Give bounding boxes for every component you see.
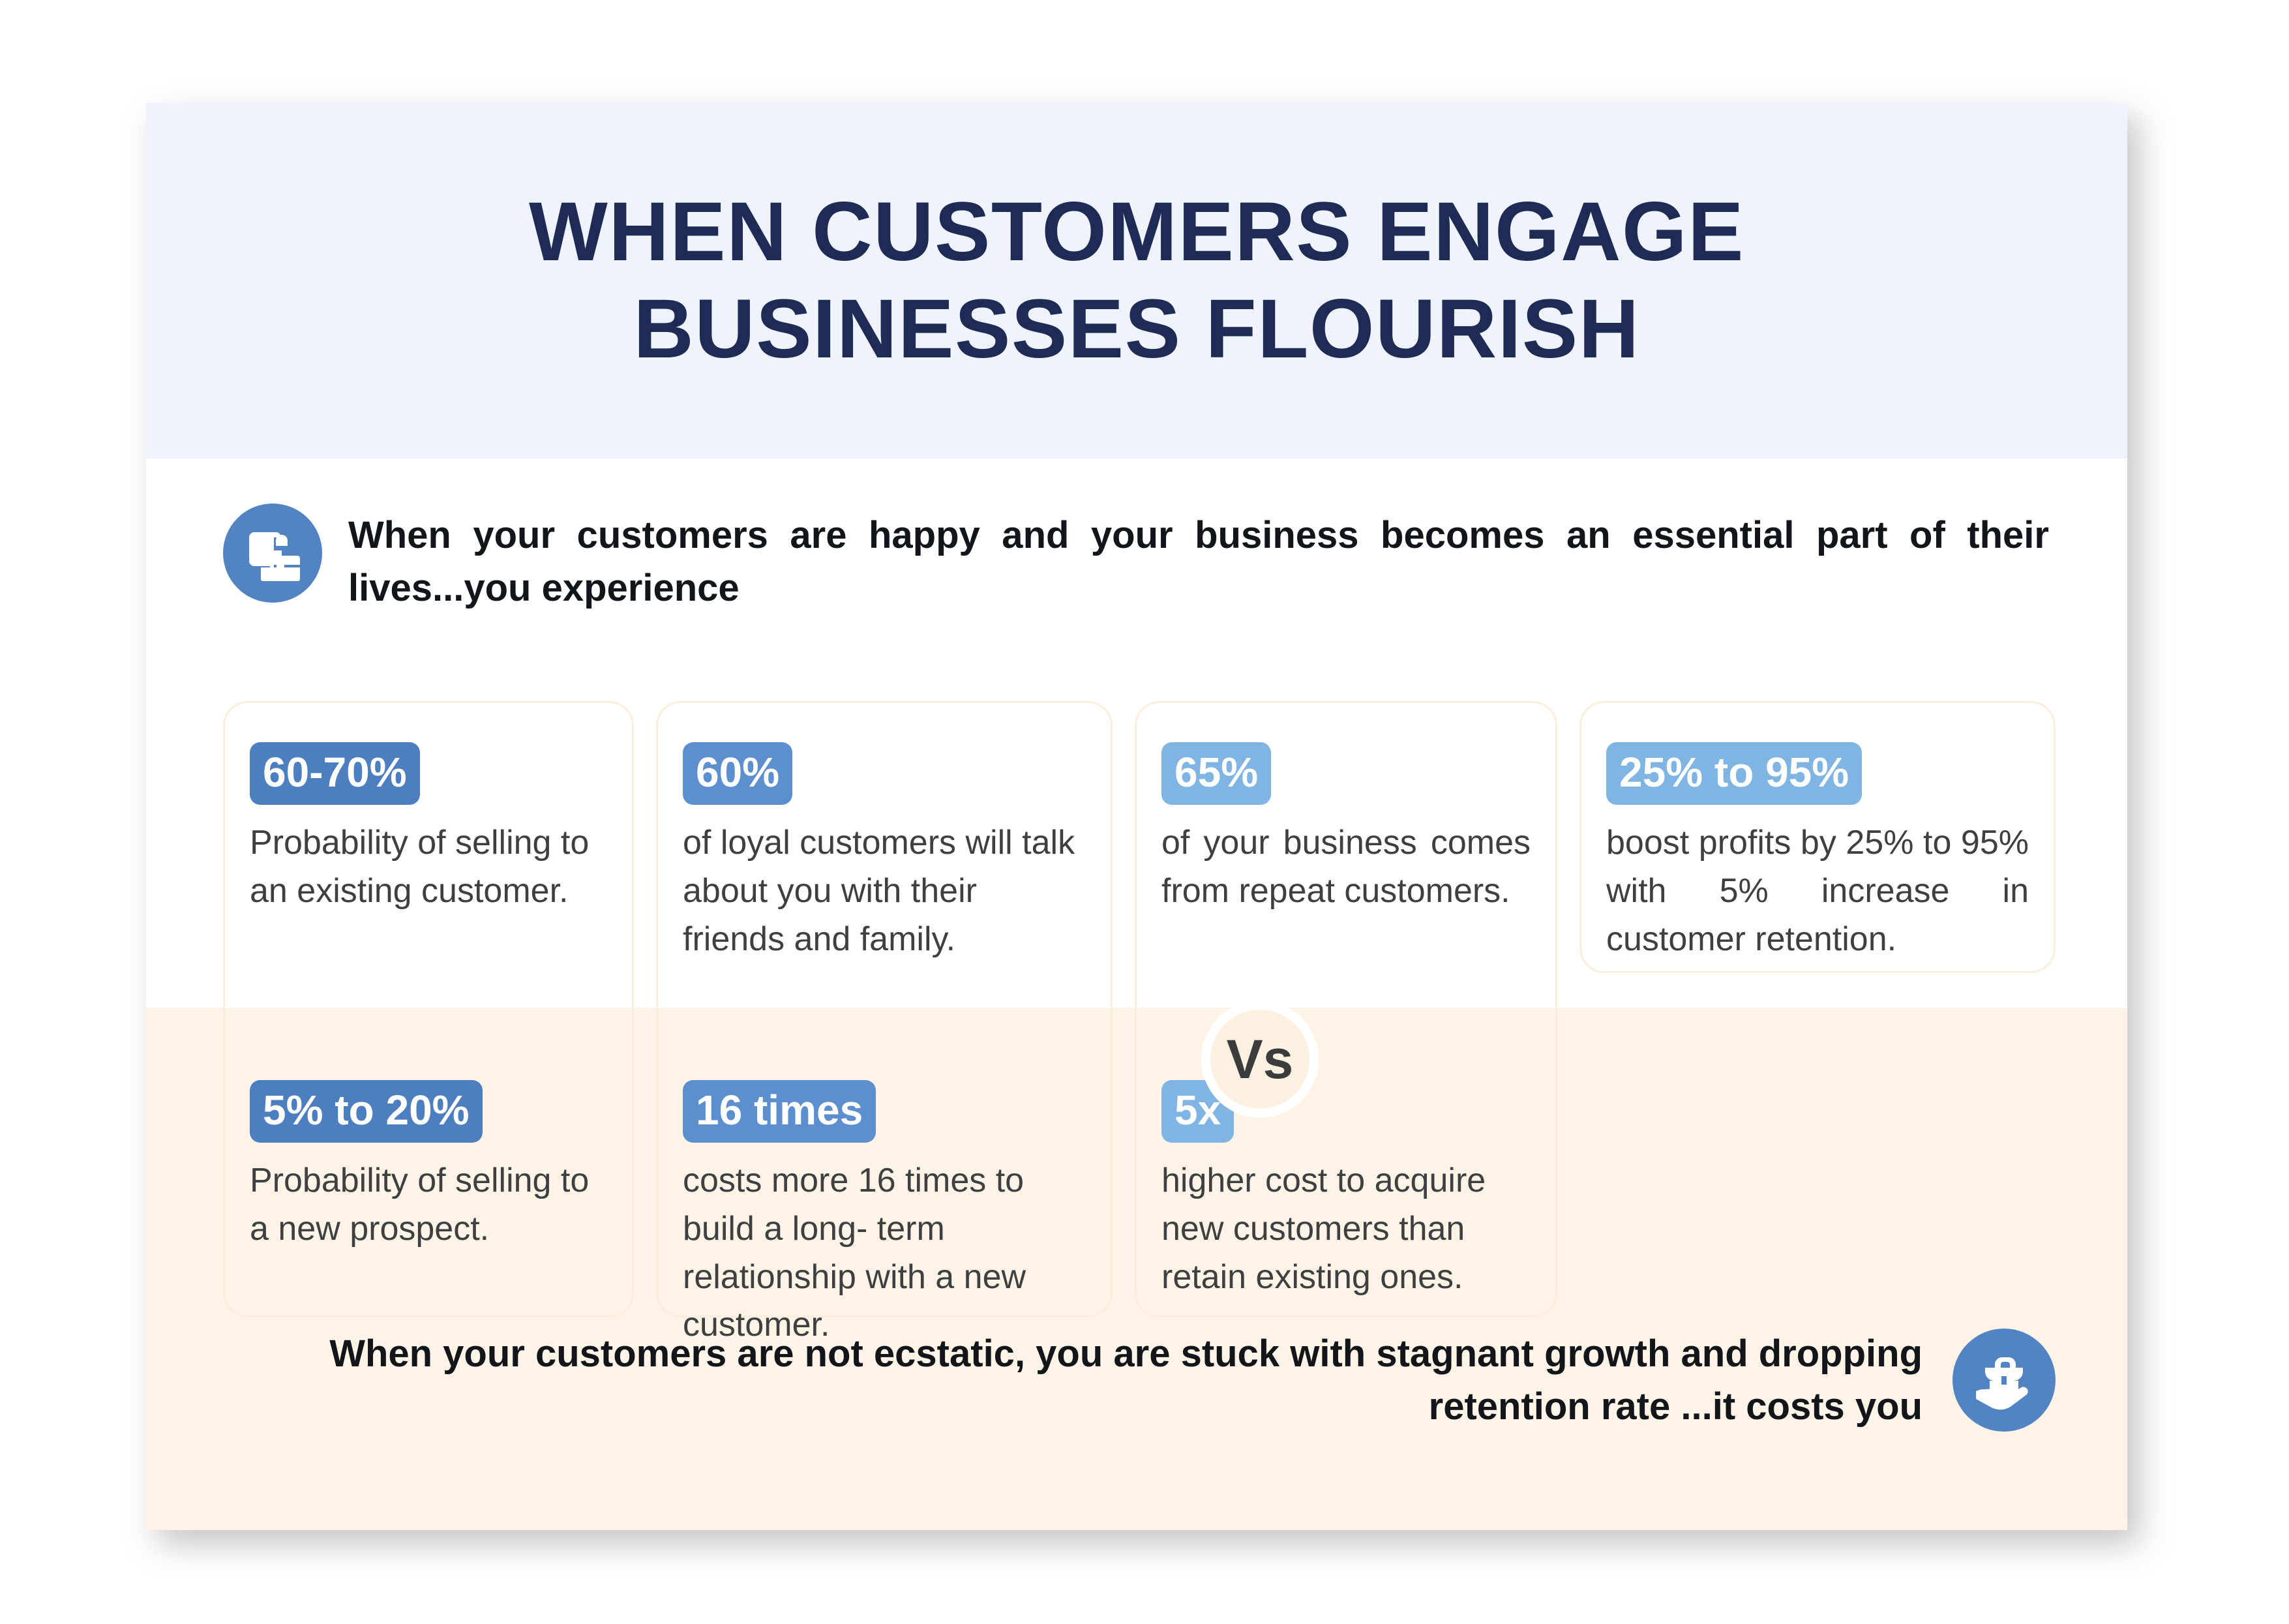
- stat-cell-1-top: 60-70% Probability of selling to an exis…: [225, 742, 632, 916]
- intro-row: When your customers are happy and your b…: [223, 500, 2056, 614]
- status-badge: 5% to 20%: [250, 1080, 483, 1143]
- page-title-line-1: WHEN CUSTOMERS ENGAGE: [529, 184, 1744, 280]
- stats-card-2[interactable]: 60% of loyal customers will talk about y…: [656, 701, 1113, 1317]
- stat-description: costs more 16 times to build a long- ter…: [683, 1157, 1086, 1349]
- stat-description: Probability of selling to an existing cu…: [250, 819, 607, 916]
- stat-cell-2-bottom: 16 times costs more 16 times to build a …: [658, 1080, 1111, 1349]
- stats-card-3[interactable]: 65% of your business comes from repeat c…: [1135, 701, 1557, 1317]
- status-badge: 65%: [1161, 742, 1271, 805]
- stat-cell-2-top: 60% of loyal customers will talk about y…: [658, 742, 1111, 963]
- status-badge: 25% to 95%: [1606, 742, 1862, 805]
- screenshot-canvas: WHEN CUSTOMERS ENGAGE BUSINESSES FLOURIS…: [0, 0, 2289, 1624]
- hand-holding-briefcase-icon: [1952, 1329, 2056, 1432]
- poster-header-band: WHEN CUSTOMERS ENGAGE BUSINESSES FLOURIS…: [146, 103, 2127, 459]
- versus-marker: Vs: [1201, 1000, 1319, 1118]
- intro-text: When your customers are happy and your b…: [348, 500, 2056, 614]
- stat-description: of your business comes from repeat custo…: [1161, 819, 1531, 916]
- stats-card-1[interactable]: 60-70% Probability of selling to an exis…: [223, 701, 634, 1317]
- stat-cell-3-bottom: 5x higher cost to acquire new customers …: [1137, 1080, 1555, 1301]
- stats-card-grid: 60-70% Probability of selling to an exis…: [223, 701, 2056, 1321]
- stat-description: boost profits by 25% to 95% with 5% incr…: [1606, 819, 2029, 963]
- stat-cell-1-bottom: 5% to 20% Probability of selling to a ne…: [225, 1080, 632, 1254]
- footer-text: When your customers are not ecstatic, yo…: [223, 1327, 1922, 1433]
- stat-description: Probability of selling to a new prospect…: [250, 1157, 607, 1254]
- stat-description: of loyal customers will talk about you w…: [683, 819, 1086, 963]
- stat-cell-3-top: 65% of your business comes from repeat c…: [1137, 742, 1555, 916]
- infographic-poster: WHEN CUSTOMERS ENGAGE BUSINESSES FLOURIS…: [146, 103, 2127, 1530]
- document-briefcase-icon: [223, 504, 322, 603]
- stats-card-4[interactable]: 25% to 95% boost profits by 25% to 95% w…: [1579, 701, 2056, 973]
- status-badge: 60%: [683, 742, 792, 805]
- footer-row: When your customers are not ecstatic, yo…: [223, 1327, 2056, 1433]
- page-title-line-2: BUSINESSES FLOURISH: [633, 281, 1639, 378]
- status-badge: 60-70%: [250, 742, 420, 805]
- stat-description: higher cost to acquire new customers tha…: [1161, 1157, 1531, 1301]
- status-badge: 16 times: [683, 1080, 876, 1143]
- stat-cell-4-top: 25% to 95% boost profits by 25% to 95% w…: [1581, 742, 2054, 963]
